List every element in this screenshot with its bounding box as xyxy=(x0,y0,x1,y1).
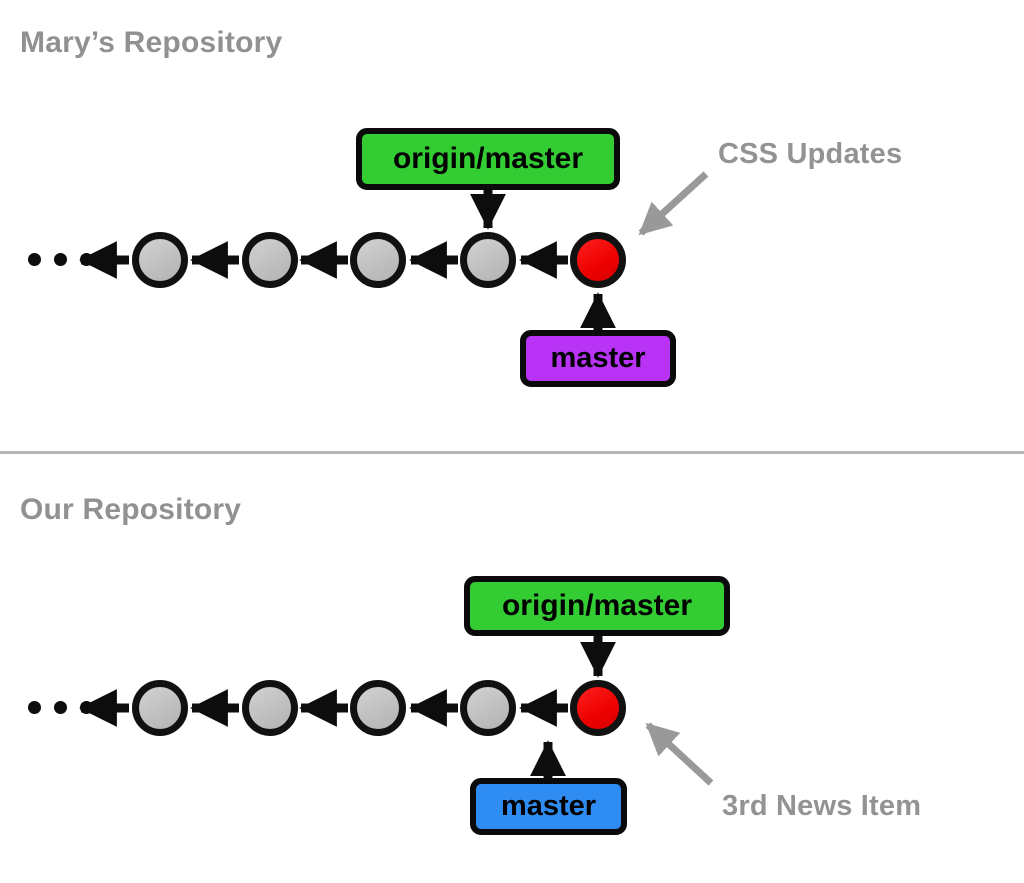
commit-edges-mary xyxy=(0,0,1024,452)
ellipsis-older-commits-mary xyxy=(28,253,93,266)
commit-node[interactable] xyxy=(460,232,516,288)
ellipsis-dot xyxy=(80,701,93,714)
commit-node[interactable] xyxy=(350,680,406,736)
ellipsis-older-commits-ours xyxy=(28,701,93,714)
ellipsis-dot xyxy=(54,701,67,714)
ellipsis-dot xyxy=(28,701,41,714)
ref-box-master[interactable]: master xyxy=(520,330,676,387)
panel-our-repository: Our Repository xyxy=(0,453,1024,883)
ref-box-label: master xyxy=(501,790,596,823)
commit-node[interactable] xyxy=(242,680,298,736)
commit-node[interactable] xyxy=(242,232,298,288)
commit-node[interactable] xyxy=(460,680,516,736)
ellipsis-dot xyxy=(80,253,93,266)
ref-box-label: origin/master xyxy=(502,589,692,623)
commit-node-new[interactable] xyxy=(570,232,626,288)
annotation-css-updates: CSS Updates xyxy=(718,138,902,171)
ellipsis-dot xyxy=(54,253,67,266)
commit-node[interactable] xyxy=(132,232,188,288)
annotation-3rd-news-item: 3rd News Item xyxy=(722,790,921,823)
ref-box-origin-master[interactable]: origin/master xyxy=(356,128,620,190)
ref-box-label: master xyxy=(550,342,645,375)
commit-node-new[interactable] xyxy=(570,680,626,736)
ref-box-master[interactable]: master xyxy=(470,778,627,835)
ref-box-origin-master[interactable]: origin/master xyxy=(464,576,730,636)
ref-box-label: origin/master xyxy=(393,142,583,176)
panel-marys-repository: Mary’s Repository xyxy=(0,0,1024,452)
commit-node[interactable] xyxy=(350,232,406,288)
ellipsis-dot xyxy=(28,253,41,266)
commit-node[interactable] xyxy=(132,680,188,736)
diagram-canvas: Mary’s Repository xyxy=(0,0,1024,883)
